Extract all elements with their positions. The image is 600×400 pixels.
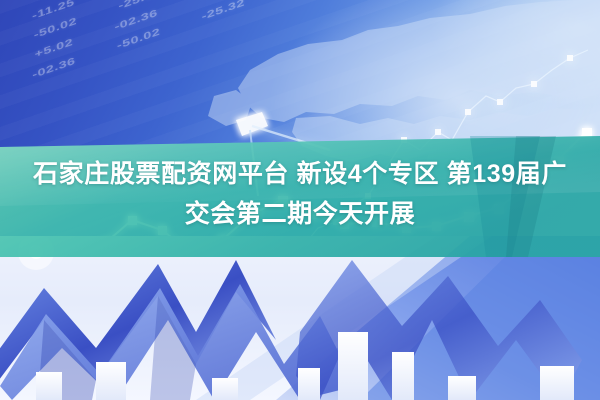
bar-column	[212, 378, 238, 400]
bar-column	[298, 368, 320, 400]
bar-column	[338, 332, 368, 400]
sparkle-core	[29, 245, 43, 259]
bar-column	[36, 372, 62, 400]
page-title: 石家庄股票配资网平台 新设4个专区 第139届广 交会第二期今天开展	[0, 154, 600, 234]
lower-chart-scene	[0, 236, 600, 400]
promo-banner-image: -02.36-50.02-25.32-11.25+5.0245.024.3621…	[0, 0, 600, 400]
bar-column	[96, 362, 126, 400]
headline-line-2: 交会第二期今天开展	[0, 194, 600, 234]
bar-column	[448, 376, 476, 400]
headline-line-1: 石家庄股票配资网平台 新设4个专区 第139届广	[33, 160, 567, 188]
bar-column	[540, 366, 574, 400]
bar-column	[392, 352, 414, 400]
